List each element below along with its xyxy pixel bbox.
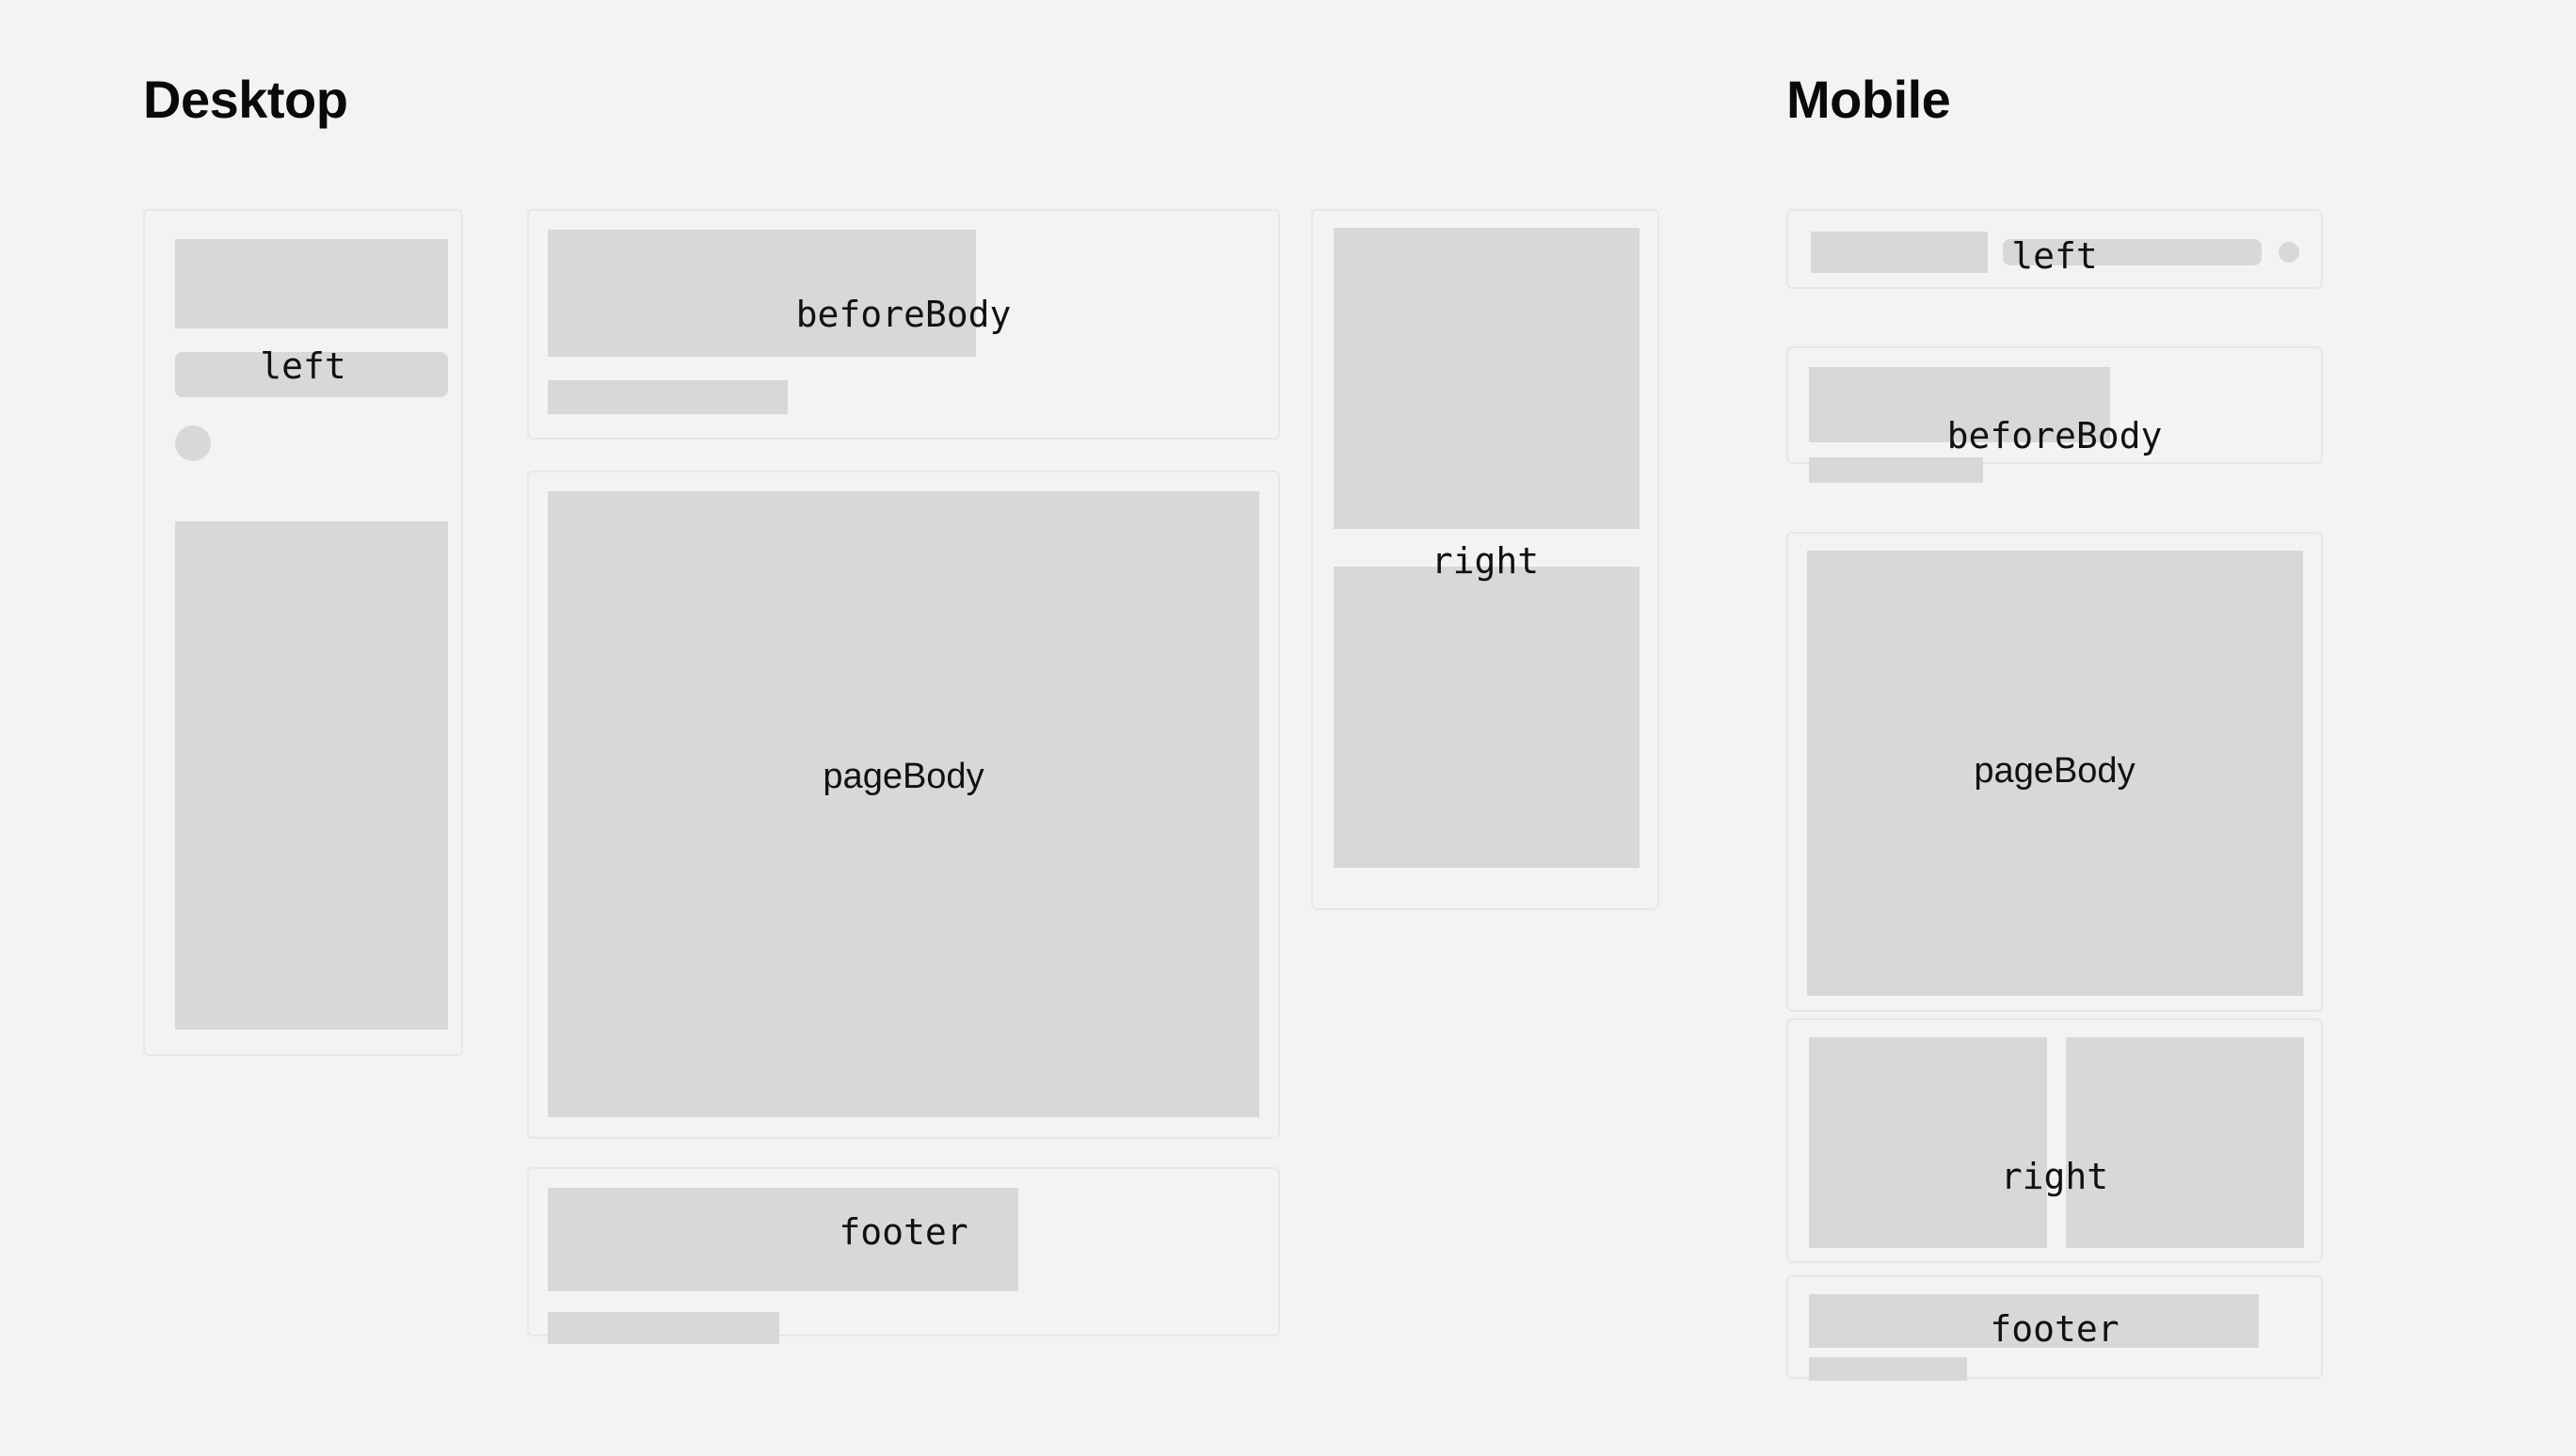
skeleton-bar (548, 380, 788, 414)
desktop-column-title: Desktop (143, 73, 347, 126)
desktop-slot-right (1311, 209, 1659, 910)
skeleton-block (1334, 228, 1640, 529)
skeleton-bar (1809, 1357, 1967, 1381)
mobile-column-title: Mobile (1786, 73, 1950, 126)
skeleton-block (2066, 1037, 2304, 1248)
skeleton-block (1807, 551, 2303, 996)
skeleton-bar (1809, 457, 1983, 483)
mobile-slot-pagebody (1786, 532, 2323, 1012)
mobile-slot-beforebody (1786, 346, 2323, 464)
skeleton-block (548, 491, 1259, 1117)
desktop-slot-beforebody (527, 209, 1280, 440)
skeleton-block (548, 230, 976, 357)
desktop-slot-footer (527, 1167, 1280, 1336)
mobile-slot-left (1786, 209, 2323, 289)
desktop-slot-left (143, 209, 463, 1056)
skeleton-block (1809, 367, 2110, 442)
skeleton-block (175, 521, 448, 1030)
skeleton-block (548, 1188, 1018, 1291)
desktop-slot-pagebody (527, 471, 1280, 1139)
skeleton-bar (175, 352, 448, 397)
skeleton-avatar-circle (2279, 242, 2299, 263)
skeleton-block (175, 239, 448, 328)
skeleton-avatar-circle (175, 425, 211, 461)
mobile-slot-footer (1786, 1275, 2323, 1379)
skeleton-block (1334, 567, 1640, 868)
mobile-slot-right (1786, 1018, 2323, 1263)
skeleton-block (1809, 1294, 2259, 1348)
skeleton-block (1809, 1037, 2047, 1248)
skeleton-bar (548, 1312, 779, 1344)
skeleton-bar (2003, 239, 2262, 265)
skeleton-block (1811, 232, 1988, 273)
